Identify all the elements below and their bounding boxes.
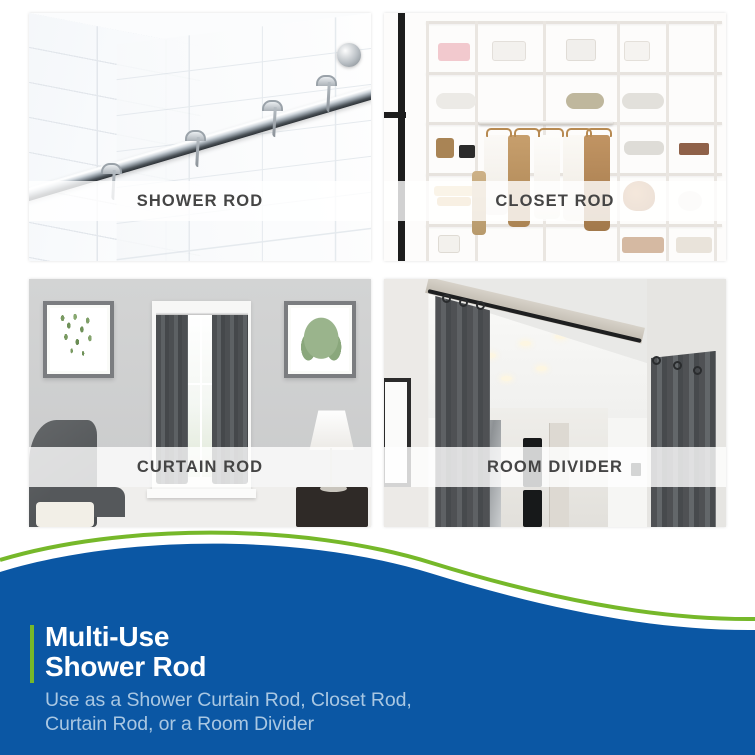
wall-oven — [523, 490, 543, 527]
panel-grid: SHOWER ROD — [29, 13, 726, 527]
shelf-upright — [666, 21, 669, 261]
hanger-icon — [586, 128, 612, 137]
product-infographic: SHOWER ROD — [0, 0, 755, 755]
green-accent-bar — [30, 625, 34, 683]
shelf-item-white-box — [492, 41, 526, 61]
curtain-rod-scene — [29, 279, 371, 527]
shelf-item-folded-linen — [624, 141, 664, 155]
shelf-item-pink-box — [438, 43, 470, 61]
shelf-item-basket — [436, 138, 454, 158]
footer-banner: Multi-Use Shower Rod Use as a Shower Cur… — [0, 527, 755, 755]
grommet-icon — [693, 366, 702, 375]
rod-wall-flange — [337, 43, 361, 67]
grommet-icon — [442, 294, 451, 303]
shelf-upright — [426, 21, 429, 261]
shelf-item-shoes — [459, 145, 475, 158]
panel-label-room-divider: ROOM DIVIDER — [487, 458, 623, 477]
footer-subtitle-line-2: Curtain Rod, or a Room Divider — [45, 713, 650, 737]
shelf-grid — [426, 21, 722, 261]
side-table — [296, 487, 368, 527]
door-frame-crossbar — [384, 112, 406, 118]
room-divider-scene — [384, 279, 726, 527]
footer-title-line-1: Multi-Use — [45, 622, 650, 652]
living-room — [29, 279, 371, 527]
door-frame — [398, 13, 405, 261]
shelf-item-book — [679, 143, 709, 155]
panel-curtain-rod[interactable]: CURTAIN ROD — [29, 279, 371, 527]
recessed-light-icon — [555, 334, 566, 339]
vine-artwork — [50, 308, 108, 371]
closet-hanging-rod — [479, 121, 613, 125]
shelf-divider — [426, 72, 722, 75]
panel-label-band: CLOSET ROD — [384, 181, 726, 221]
shelf-item-white-box — [624, 41, 650, 61]
recessed-light-icon — [536, 366, 547, 371]
hanger-icon — [538, 128, 564, 137]
recessed-light-icon — [501, 376, 512, 381]
divider-curtain-left — [435, 289, 490, 527]
panel-label-band: SHOWER ROD — [29, 181, 371, 221]
footer-subtitle: Use as a Shower Curtain Rod, Closet Rod,… — [45, 689, 650, 737]
grommet-icon — [673, 361, 682, 370]
leaf-artwork — [291, 308, 349, 371]
curtain-hook-icon — [262, 100, 279, 109]
curtain-hook-icon — [185, 130, 202, 139]
throw-blanket — [36, 502, 94, 527]
window-sill — [147, 489, 256, 498]
shelf-upright — [714, 21, 717, 261]
shelf-item-folded-linen — [622, 93, 664, 109]
shelf-item-folded-linen — [436, 93, 476, 109]
shelf-divider — [426, 224, 722, 227]
footer-title: Multi-Use Shower Rod — [45, 622, 650, 682]
grommet-icon — [459, 298, 468, 307]
panel-label-shower-rod: SHOWER ROD — [137, 192, 264, 211]
shelf-item-folded-linen — [676, 237, 712, 253]
framed-art-left — [43, 301, 115, 378]
panel-label-band: ROOM DIVIDER — [384, 447, 726, 487]
footer-title-line-2: Shower Rod — [45, 652, 650, 682]
panel-label-closet-rod: CLOSET ROD — [495, 192, 614, 211]
panel-room-divider[interactable]: ROOM DIVIDER — [384, 279, 726, 527]
divider-room — [384, 279, 726, 527]
shower-rod-scene — [29, 13, 371, 261]
panel-closet-rod[interactable]: CLOSET ROD — [384, 13, 726, 261]
closet-shelving — [384, 13, 726, 261]
shelf-item-white-bag — [566, 39, 596, 61]
hanger-icon — [486, 128, 512, 137]
grommet-icon — [652, 356, 661, 365]
panel-label-band: CURTAIN ROD — [29, 447, 371, 487]
curtain-hook-icon — [101, 163, 118, 172]
hanger-icon — [514, 128, 540, 137]
curtain-rod — [156, 312, 248, 315]
shelf-item-folded-linen — [622, 237, 664, 253]
divider-curtain-right — [651, 351, 716, 527]
shelf-item-folded-linen — [566, 93, 604, 109]
curtain-hook-icon — [316, 75, 333, 84]
footer-text-block: Multi-Use Shower Rod Use as a Shower Cur… — [30, 622, 650, 737]
panel-label-curtain-rod: CURTAIN ROD — [137, 458, 263, 477]
lamp-shade — [309, 410, 353, 450]
closet-rod-scene — [384, 13, 726, 261]
shelf-upright — [617, 21, 620, 261]
framed-art-right — [284, 301, 356, 378]
shelf-divider — [426, 21, 722, 24]
shelf-item-handbag — [438, 235, 460, 253]
footer-subtitle-line-1: Use as a Shower Curtain Rod, Closet Rod, — [45, 689, 650, 713]
panel-shower-rod[interactable]: SHOWER ROD — [29, 13, 371, 261]
